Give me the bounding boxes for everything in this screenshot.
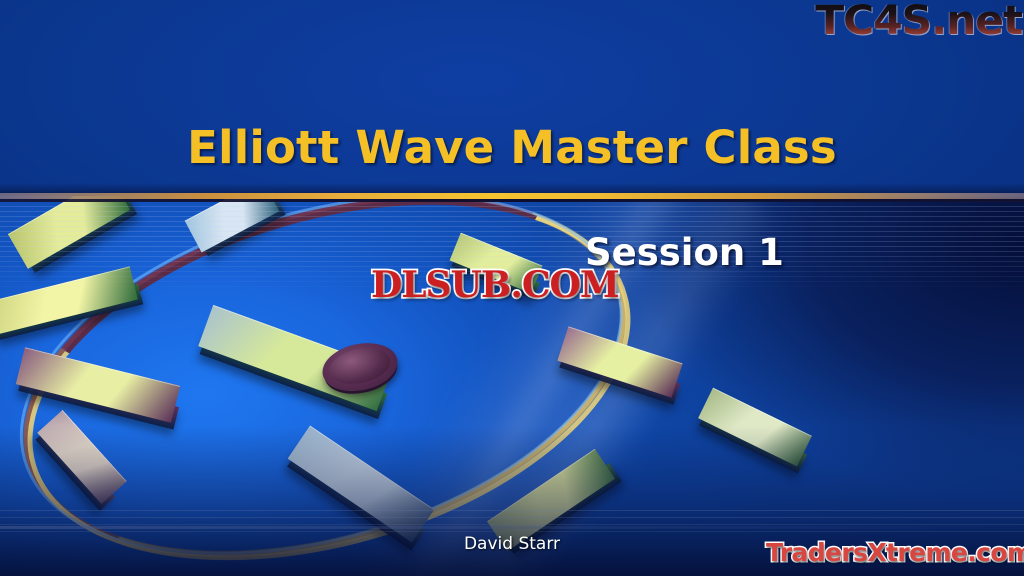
- slide-title: Elliott Wave Master Class: [0, 121, 1024, 174]
- presentation-slide: Elliott Wave Master Class Session 1 Davi…: [0, 0, 1024, 576]
- gold-divider-rule: [0, 193, 1024, 199]
- watermark-tc4s: TC4S.net: [815, 0, 1022, 44]
- watermark-dlsub: DLSUB.COM: [371, 264, 619, 306]
- watermark-tradersxtreme: TradersXtreme.com: [766, 538, 1024, 567]
- slide-graphic-area: [0, 196, 1024, 576]
